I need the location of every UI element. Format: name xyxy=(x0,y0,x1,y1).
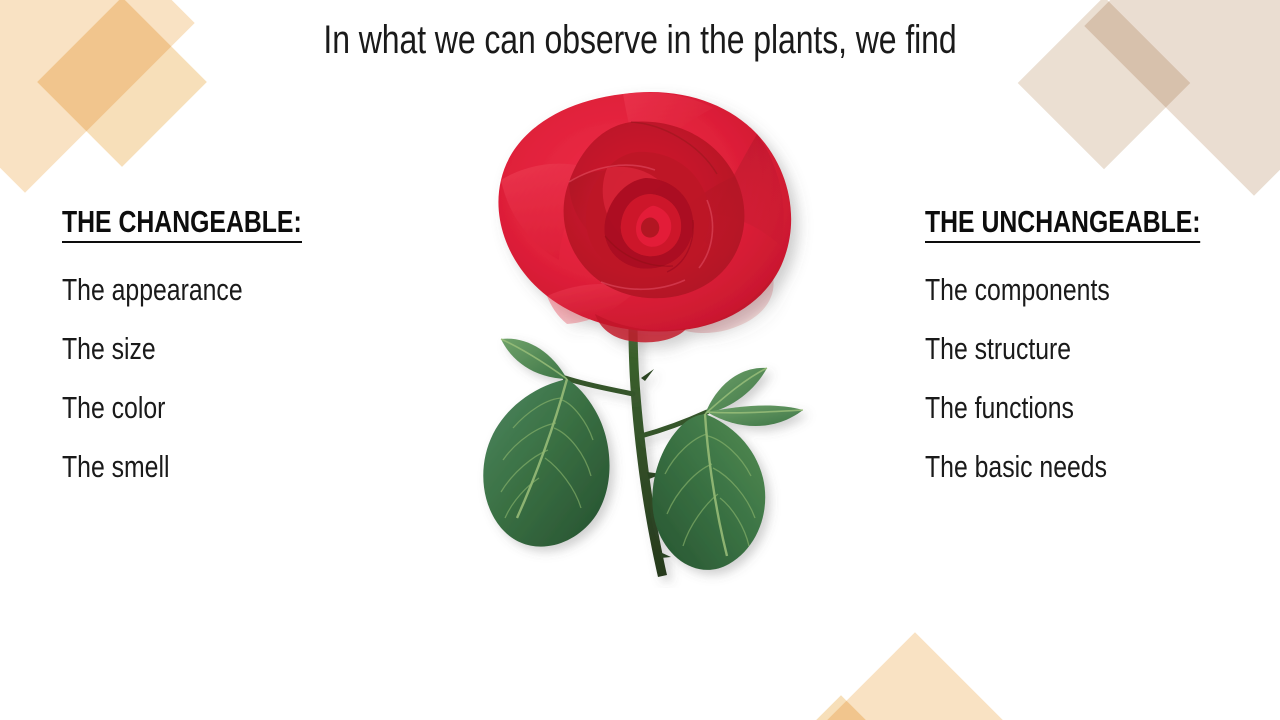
page-title: In what we can observe in the plants, we… xyxy=(128,18,1152,63)
bottom-center-large-diamond xyxy=(796,632,1034,720)
rose-image xyxy=(455,78,825,588)
changeable-column: THE CHANGEABLE: The appearance The size … xyxy=(62,205,362,496)
unchangeable-list: The components The structure The functio… xyxy=(925,260,1269,496)
changeable-list: The appearance The size The color The sm… xyxy=(62,260,362,496)
slide-canvas: In what we can observe in the plants, we… xyxy=(0,0,1280,720)
list-item: The color xyxy=(62,378,302,437)
list-item: The components xyxy=(925,260,1201,319)
list-item: The structure xyxy=(925,319,1201,378)
unchangeable-column: THE UNCHANGEABLE: The components The str… xyxy=(925,205,1269,496)
changeable-heading: THE CHANGEABLE: xyxy=(62,205,302,243)
unchangeable-heading: THE UNCHANGEABLE: xyxy=(925,205,1201,243)
list-item: The functions xyxy=(925,378,1201,437)
list-item: The size xyxy=(62,319,302,378)
rose-bloom xyxy=(498,92,791,342)
list-item: The basic needs xyxy=(925,437,1201,496)
bottom-center-small-diamond xyxy=(780,695,902,720)
list-item: The smell xyxy=(62,437,302,496)
list-item: The appearance xyxy=(62,260,302,319)
